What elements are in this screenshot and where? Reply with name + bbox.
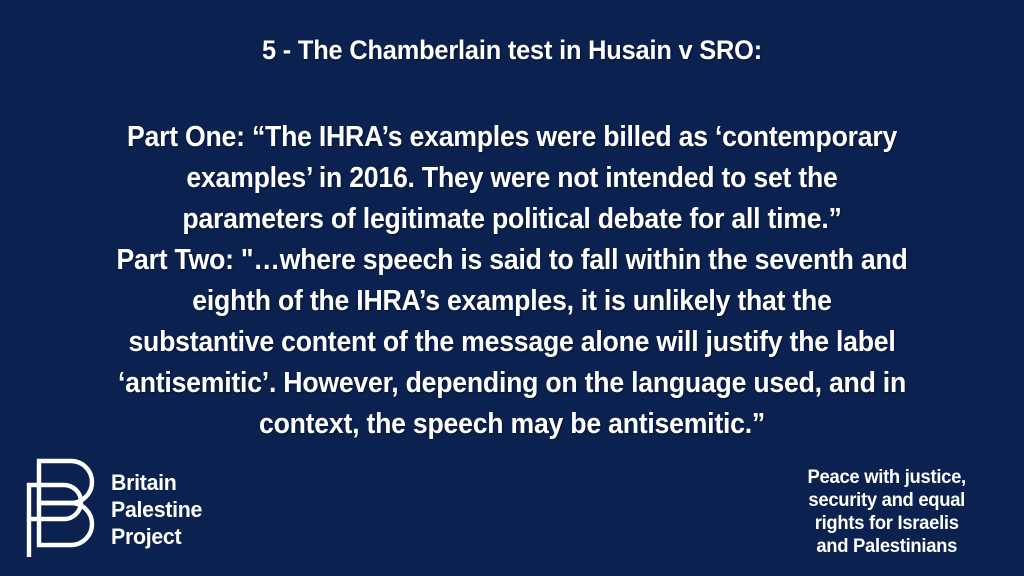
quote-line: eighth of the IHRA’s examples, it is unl… [61,281,962,322]
page-title: 5 - The Chamberlain test in Husain v SRO… [31,34,994,66]
quote-line: Part Two: "…where speech is said to fall… [61,240,962,281]
logo-word-line: Palestine [111,496,202,523]
tagline-line: Peace with justice, [766,466,1007,489]
logo-word-line: Britain [111,469,202,496]
quote-body: Part One: “The IHRA’s examples were bill… [30,117,994,445]
logo-lockup: Britain Palestine Project [26,458,205,560]
quote-line: ‘antisemitic’. However, depending on the… [61,363,962,404]
quote-line: Part One: “The IHRA’s examples were bill… [61,117,962,158]
bp-monogram-icon [26,458,100,560]
tagline: Peace with justice, security and equal r… [766,466,1007,558]
quote-line: context, the speech may be antisemitic.” [61,404,962,445]
tagline-line: rights for Israelis [766,512,1007,535]
logo-wordmark: Britain Palestine Project [111,469,202,550]
tagline-line: security and equal [766,489,1007,512]
quote-line: parameters of legitimate political debat… [61,199,962,240]
quote-line: examples’ in 2016. They were not intende… [61,158,962,199]
slide-canvas: 5 - The Chamberlain test in Husain v SRO… [0,0,1024,576]
logo-word-line: Project [111,523,202,550]
quote-line: substantive content of the message alone… [61,322,962,363]
tagline-line: and Palestinians [766,535,1007,558]
